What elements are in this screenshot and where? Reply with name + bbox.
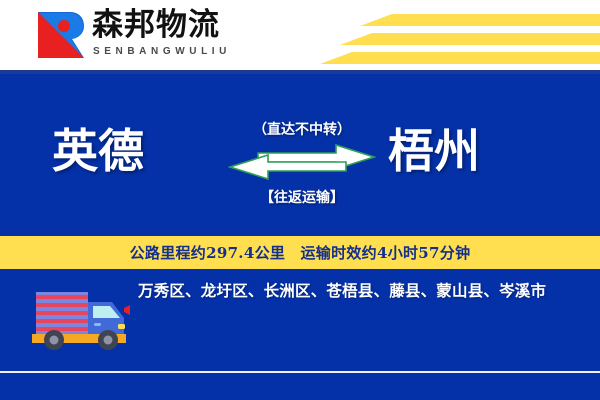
destination-city-label: 梧州	[388, 124, 480, 178]
bidirectional-arrow-icon	[228, 143, 376, 181]
origin-city-label: 英德	[52, 124, 144, 178]
distance-duration-banner: 公路里程约297.4公里 运输时效约4小时57分钟	[0, 236, 600, 269]
logistics-route-poster: 森邦物流 SENBANGWULIU 英德 梧州 （直达不中转） 【往返运输】 公…	[0, 0, 600, 400]
direct-route-note: （直达不中转）	[234, 119, 370, 139]
header-bar: 森邦物流 SENBANGWULIU	[0, 0, 600, 70]
brand-name-en: SENBANGWULIU	[93, 46, 231, 57]
footer-divider	[0, 371, 600, 373]
coverage-districts-list: 万秀区、龙圩区、长洲区、苍梧县、藤县、蒙山县、岑溪市	[138, 278, 578, 303]
yellow-speed-stripes-icon	[300, 0, 600, 70]
brand-name-cn: 森邦物流	[92, 7, 220, 43]
delivery-truck-icon	[28, 284, 130, 352]
senbang-r-logo-icon[interactable]	[36, 10, 86, 60]
round-trip-note: 【往返运输】	[234, 187, 370, 207]
banner-text: 公路里程约297.4公里 运输时效约4小时57分钟	[130, 242, 471, 263]
